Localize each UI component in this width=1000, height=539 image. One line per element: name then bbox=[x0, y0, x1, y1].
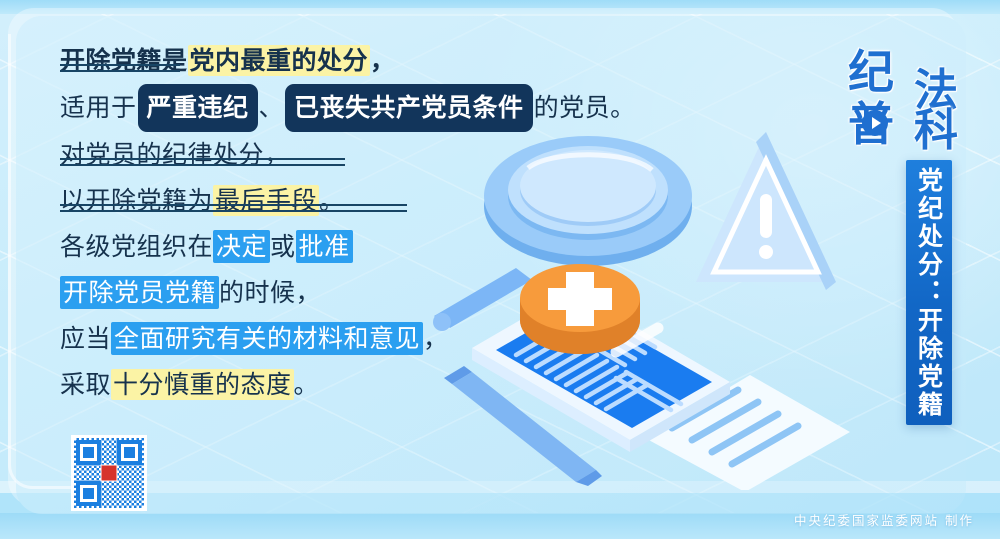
footer-credit: 中央纪委国家监委网站 制作 bbox=[794, 510, 974, 529]
copy-line-8-highlight: 十分慎重的态度 bbox=[111, 369, 294, 400]
copy-line-2-pill-1: 严重违纪 bbox=[138, 84, 258, 132]
top-band bbox=[0, 0, 1000, 14]
copy-line-1: 开除党籍是党内最重的处分， bbox=[60, 38, 620, 84]
copy-line-4: 以开除党籍为最后手段。 bbox=[60, 178, 620, 224]
qr-code[interactable] bbox=[71, 435, 147, 511]
copy-line-2-seg-3: 、 bbox=[259, 93, 285, 122]
qr-finder-top-right bbox=[117, 440, 142, 465]
copy-line-1-seg-1: 开除党籍 bbox=[60, 46, 162, 75]
brand-char-4: 科 bbox=[914, 94, 958, 158]
copy-line-3-seg-1: 对党员的纪律处分， bbox=[60, 140, 290, 169]
qr-finder-bottom-left bbox=[76, 481, 101, 506]
vertical-title-text: 党纪处分：开除党籍 bbox=[917, 167, 942, 419]
warning-exclamation bbox=[760, 194, 772, 238]
copy-line-4-seg-1: 以开除党籍为 bbox=[60, 186, 213, 215]
copy-line-8-seg-1: 采取 bbox=[60, 370, 111, 399]
copy-line-5-highlight-1: 决定 bbox=[213, 230, 270, 263]
copy-line-2: 适用于严重违纪、已丧失共产党员条件的党员。 bbox=[60, 84, 620, 132]
qr-finder-top-left bbox=[76, 440, 101, 465]
copy-line-7-highlight: 全面研究有关的材料和意见 bbox=[111, 322, 423, 355]
copy-line-5-highlight-2: 批准 bbox=[296, 230, 353, 263]
copy-line-7: 应当全面研究有关的材料和意见， bbox=[60, 316, 620, 362]
copy-line-4-highlight: 最后手段 bbox=[213, 185, 319, 216]
body-copy: 开除党籍是党内最重的处分， 适用于严重违纪、已丧失共产党员条件的党员。 对党员的… bbox=[60, 38, 620, 408]
copy-line-6-highlight: 开除党员党籍 bbox=[60, 276, 219, 309]
copy-line-6: 开除党员党籍的时候， bbox=[60, 270, 620, 316]
copy-line-6-seg-2: 的时候， bbox=[219, 278, 321, 307]
copy-line-5: 各级党组织在决定或批准 bbox=[60, 224, 620, 270]
poster-canvas: 开除党籍是党内最重的处分， 适用于严重违纪、已丧失共产党员条件的党员。 对党员的… bbox=[0, 0, 1000, 539]
qr-code-pattern bbox=[74, 438, 144, 508]
copy-line-4-underline: 以开除党籍为最后手段 bbox=[60, 186, 319, 215]
copy-line-8: 采取十分慎重的态度。 bbox=[60, 362, 620, 408]
copy-line-8-seg-3: 。 bbox=[294, 370, 320, 399]
copy-line-3: 对党员的纪律处分， bbox=[60, 132, 620, 178]
copy-line-1-seg-4: ， bbox=[370, 46, 396, 75]
copy-line-5-seg-1: 各级党组织在 bbox=[60, 232, 213, 261]
vertical-title-banner: 党纪处分：开除党籍 bbox=[906, 160, 952, 425]
play-icon[interactable] bbox=[862, 110, 888, 136]
warning-triangle-icon bbox=[696, 132, 836, 290]
copy-line-2-pill-2: 已丧失共产党员条件 bbox=[285, 84, 533, 132]
brand-logo: 纪 法 普 科 bbox=[846, 36, 958, 154]
copy-line-2-seg-5: 的党员。 bbox=[534, 93, 636, 122]
copy-line-1-highlight: 党内最重的处分 bbox=[188, 45, 371, 76]
qr-center-logo bbox=[101, 465, 118, 482]
copy-line-7-seg-3: ， bbox=[423, 324, 449, 353]
copy-line-2-seg-1: 适用于 bbox=[60, 93, 137, 122]
copy-line-7-seg-1: 应当 bbox=[60, 324, 111, 353]
copy-line-5-seg-3: 或 bbox=[270, 232, 296, 261]
